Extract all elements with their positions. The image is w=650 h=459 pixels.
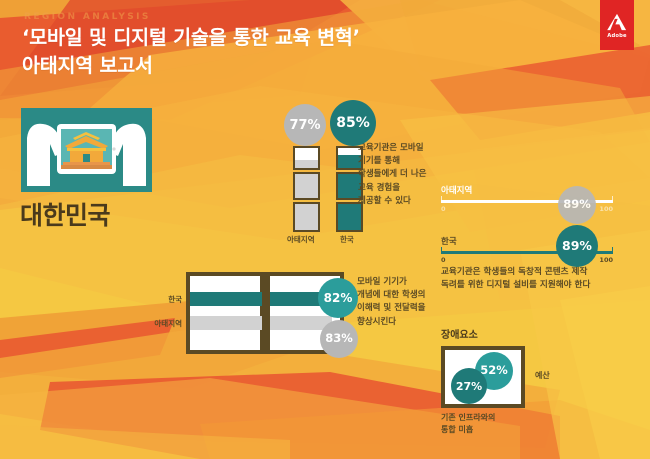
book-label-korea: 한국 bbox=[140, 294, 182, 305]
obstacles-heading: 장애요소 bbox=[441, 326, 478, 341]
slider-apac-axis-max: 100 bbox=[599, 205, 613, 213]
badge-book-apac-value: 83% bbox=[325, 333, 353, 345]
column-apac-seg1-rest bbox=[295, 160, 318, 168]
country-illustration-card bbox=[21, 108, 152, 192]
obstacle-label-infra: 기존 인프라와의 통합 미흡 bbox=[441, 412, 495, 436]
column-chart-statement: 교육기관은 모바일 기기를 통해 학생들에게 더 나은 교육 경험을 제공할 수… bbox=[358, 142, 440, 208]
obstacles-tablet-frame: 52% 27% bbox=[441, 346, 525, 408]
column-label-korea: 한국 bbox=[340, 234, 354, 245]
slider-korea-tick-max bbox=[612, 247, 613, 251]
column-apac-seg1-fill bbox=[295, 148, 318, 160]
book-label-apac: 아태지역 bbox=[128, 318, 182, 329]
book-chart-statement: 모바일 기기가 개념에 대한 학생의 이해력 및 전달력을 향상시킨다 bbox=[357, 276, 443, 329]
book-bar-korea bbox=[190, 292, 330, 306]
column-apac-seg1 bbox=[293, 146, 320, 170]
page-title-line1: ‘모바일 및 디지털 기술을 통한 교육 변혁’ bbox=[22, 26, 360, 49]
kicker-label: REGION ANALYSIS bbox=[24, 12, 151, 22]
badge-book-korea-value: 82% bbox=[324, 292, 353, 304]
page-title: ‘모바일 및 디지털 기술을 통한 교육 변혁’ 아태지역 보고서 bbox=[22, 24, 360, 81]
slider-korea-axis-max: 100 bbox=[599, 256, 613, 264]
adobe-logo: Adobe bbox=[600, 0, 634, 50]
slider-apac-tick-min bbox=[441, 196, 442, 200]
slider-chart-statement: 교육기관은 학생들의 독창적 콘텐츠 제작 독려를 위한 디지털 설비를 지원해… bbox=[441, 266, 647, 293]
badge-obstacle-infra-value: 27% bbox=[456, 381, 482, 392]
badge-slider-apac-value: 89% bbox=[563, 199, 591, 211]
badge-slider-apac: 89% bbox=[558, 186, 596, 224]
adobe-a-icon bbox=[606, 12, 628, 32]
slider-korea-tick-min bbox=[441, 247, 442, 251]
badge-column-apac-value: 77% bbox=[289, 119, 320, 132]
hands-holding-tablet-icon bbox=[21, 108, 152, 192]
country-name: 대한민국 bbox=[20, 196, 110, 232]
book-spine bbox=[262, 272, 270, 354]
page-title-line2: 아태지역 보고서 bbox=[22, 52, 360, 80]
badge-book-korea: 82% bbox=[318, 278, 358, 318]
obstacle-label-budget: 예산 bbox=[535, 370, 550, 382]
badge-column-korea: 85% bbox=[330, 100, 376, 146]
slider-apac-axis-min: 0 bbox=[441, 205, 446, 213]
adobe-wordmark: Adobe bbox=[607, 33, 627, 39]
slider-korea-axis-min: 0 bbox=[441, 256, 446, 264]
book-bar-apac bbox=[190, 316, 332, 330]
badge-book-apac: 83% bbox=[320, 320, 358, 358]
badge-obstacle-budget-value: 52% bbox=[480, 365, 508, 377]
slider-apac-tick-max bbox=[612, 196, 613, 200]
badge-column-apac: 77% bbox=[284, 104, 326, 146]
badge-slider-korea: 89% bbox=[556, 225, 598, 267]
column-apac-seg3 bbox=[293, 202, 320, 232]
column-label-apac: 아태지역 bbox=[287, 234, 315, 245]
column-apac-seg2 bbox=[293, 172, 320, 200]
badge-obstacle-infra: 27% bbox=[451, 368, 487, 404]
badge-slider-korea-value: 89% bbox=[562, 240, 592, 253]
book-page-left bbox=[186, 272, 264, 354]
badge-column-korea-value: 85% bbox=[336, 116, 370, 130]
